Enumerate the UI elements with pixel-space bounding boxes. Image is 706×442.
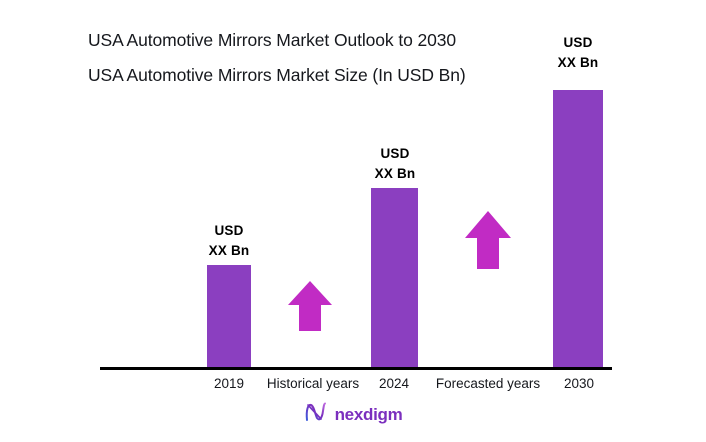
up-arrow-icon-forecast [465, 211, 511, 269]
infographic-canvas: USA Automotive Mirrors Market Outlook to… [0, 0, 706, 442]
bar-2030 [553, 90, 603, 368]
bar-value-amount-2024: XX Bn [352, 164, 438, 184]
bar-2019 [207, 265, 251, 368]
x-axis-label-historical-years: Historical years [257, 375, 369, 393]
bar-value-currency-2019: USD [214, 223, 243, 238]
x-axis-label-2030: 2030 [549, 375, 609, 393]
bar-value-currency-2024: USD [380, 146, 409, 161]
up-arrow-icon-historical [288, 281, 332, 331]
nexdigm-logo-text: nexdigm [335, 405, 403, 425]
x-axis-label-forecasted-years: Forecasted years [424, 375, 552, 393]
nexdigm-logo: nexdigm [0, 402, 706, 427]
bar-value-label-2019: USD XX Bn [187, 221, 271, 261]
x-axis-label-2024: 2024 [364, 375, 424, 393]
bar-value-label-2024: USD XX Bn [352, 144, 438, 184]
bar-value-amount-2019: XX Bn [187, 241, 271, 261]
bar-2024 [371, 188, 418, 368]
bar-chart-plot: USD XX Bn USD XX Bn USD XX Bn 2019 Histo… [0, 0, 706, 442]
x-axis-label-2019: 2019 [199, 375, 259, 393]
x-axis-line [100, 367, 612, 370]
bar-value-amount-2030: XX Bn [536, 53, 620, 73]
bar-value-currency-2030: USD [563, 35, 592, 50]
bar-value-label-2030: USD XX Bn [536, 33, 620, 73]
nexdigm-n-mark-icon [304, 402, 328, 427]
